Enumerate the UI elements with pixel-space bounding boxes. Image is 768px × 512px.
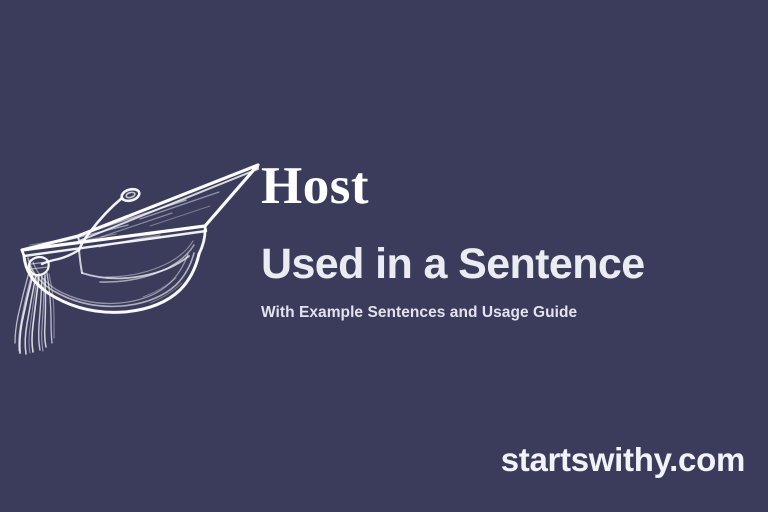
page-subtitle: With Example Sentences and Usage Guide — [261, 303, 747, 323]
graduation-cap-icon — [0, 146, 270, 366]
page-title: Used in a Sentence — [261, 242, 747, 287]
site-brand: startswithy.com — [501, 440, 745, 480]
headline-block: Host Used in a Sentence With Example Sen… — [261, 160, 747, 323]
word-title: Host — [261, 160, 747, 214]
word-card: Host Used in a Sentence With Example Sen… — [0, 0, 768, 512]
